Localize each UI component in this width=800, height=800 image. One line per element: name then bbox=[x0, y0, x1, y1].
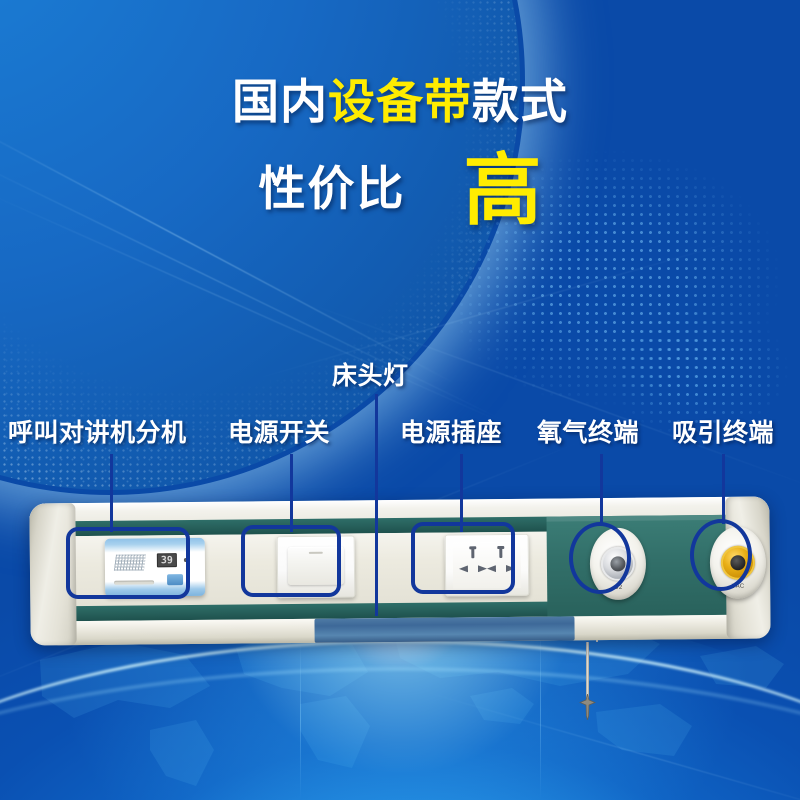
poster-stage: 国内设备带款式 性价比高 呼叫对讲机分机 电源开关 床头灯 电源插座 氧气终端 … bbox=[0, 0, 800, 800]
leader-line-socket bbox=[460, 454, 463, 532]
callout-label-bed-light: 床头灯 bbox=[332, 356, 409, 392]
highlight-box-socket bbox=[411, 522, 515, 594]
highlight-circle-suction bbox=[690, 519, 752, 591]
highlight-circle-oxygen bbox=[569, 522, 631, 594]
leader-line-intercom bbox=[110, 454, 113, 532]
hanging-pull-cord[interactable] bbox=[586, 642, 589, 700]
highlight-box-switch bbox=[241, 525, 341, 597]
leader-line-oxygen bbox=[600, 454, 603, 526]
pull-cord-metal-tip-icon[interactable] bbox=[578, 694, 597, 720]
leader-line-suction bbox=[722, 454, 725, 524]
leader-line-switch bbox=[290, 454, 293, 532]
callout-label-power-switch: 电源开关 bbox=[228, 413, 330, 449]
callout-label-suction-terminal: 吸引终端 bbox=[672, 413, 774, 449]
bottom-horizon-arc-secondary bbox=[0, 668, 800, 800]
panel-rail-blue-section bbox=[314, 616, 574, 642]
callout-label-power-socket: 电源插座 bbox=[400, 413, 502, 449]
callout-label-oxygen-terminal: 氧气终端 bbox=[537, 413, 639, 449]
highlight-box-intercom bbox=[66, 527, 190, 599]
leader-line-bedlight bbox=[375, 394, 378, 616]
callout-label-intercom: 呼叫对讲机分机 bbox=[8, 413, 187, 449]
